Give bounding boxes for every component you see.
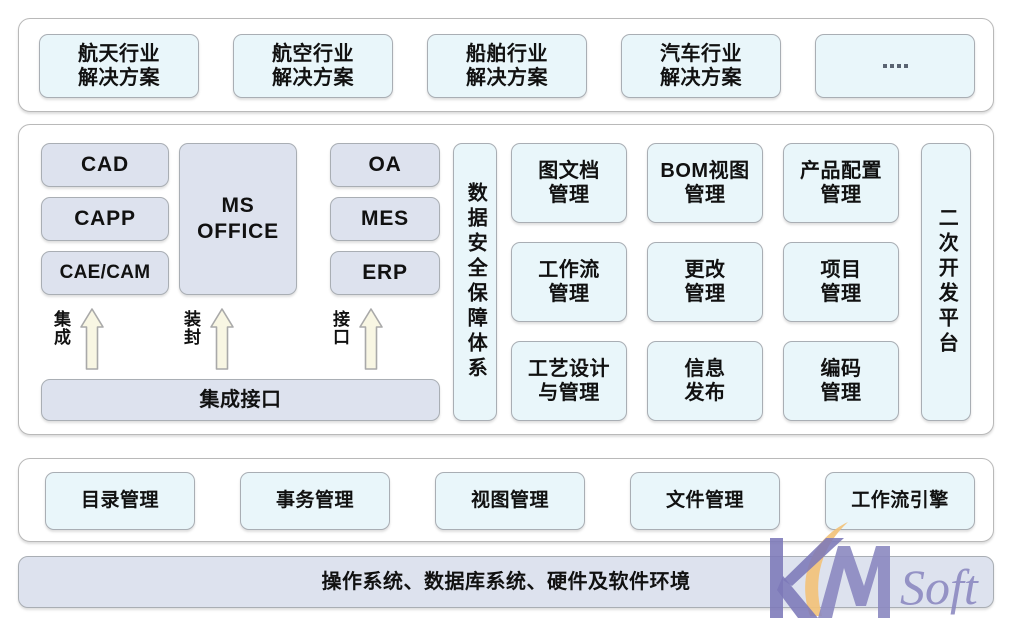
service-box-file-management[interactable]: 文件管理 bbox=[630, 472, 780, 530]
ellipsis-icon bbox=[883, 64, 908, 68]
integration-interface-bar[interactable]: 集成接口 bbox=[41, 379, 440, 421]
module-box-product-configuration-management[interactable]: 产品配置 管理 bbox=[783, 143, 899, 223]
industry-solutions-panel: 航天行业 解决方案 航空行业 解决方案 船舶行业 解决方案 汽车行业 解决方案 bbox=[18, 18, 994, 112]
industry-box-automotive[interactable]: 汽车行业 解决方案 bbox=[621, 34, 781, 98]
arrow-up-icon-packaging bbox=[209, 307, 235, 371]
app-box-cad[interactable]: CAD bbox=[41, 143, 169, 187]
service-box-view-management[interactable]: 视图管理 bbox=[435, 472, 585, 530]
service-box-directory-management[interactable]: 目录管理 bbox=[45, 472, 195, 530]
arrow-label-integration: 集成 bbox=[52, 310, 69, 346]
industry-box-aviation[interactable]: 航空行业 解决方案 bbox=[233, 34, 393, 98]
app-box-capp[interactable]: CAPP bbox=[41, 197, 169, 241]
foundation-bar[interactable]: 操作系统、数据库系统、硬件及软件环境 bbox=[18, 556, 994, 608]
module-box-coding-management[interactable]: 编码 管理 bbox=[783, 341, 899, 421]
module-box-bom-view-management[interactable]: BOM视图 管理 bbox=[647, 143, 763, 223]
architecture-diagram: 航天行业 解决方案 航空行业 解决方案 船舶行业 解决方案 汽车行业 解决方案 … bbox=[0, 0, 1012, 625]
industry-box-more[interactable] bbox=[815, 34, 975, 98]
app-box-erp[interactable]: ERP bbox=[330, 251, 440, 295]
service-box-workflow-engine[interactable]: 工作流引擎 bbox=[825, 472, 975, 530]
industry-box-aerospace[interactable]: 航天行业 解决方案 bbox=[39, 34, 199, 98]
industry-box-shipbuilding[interactable]: 船舶行业 解决方案 bbox=[427, 34, 587, 98]
app-box-oa[interactable]: OA bbox=[330, 143, 440, 187]
arrow-label-interface: 接口 bbox=[331, 310, 348, 346]
service-box-transaction-management[interactable]: 事务管理 bbox=[240, 472, 390, 530]
dev-platform-pillar[interactable]: 二次开发平台 bbox=[921, 143, 971, 421]
app-box-mes[interactable]: MES bbox=[330, 197, 440, 241]
module-box-change-management[interactable]: 更改 管理 bbox=[647, 242, 763, 322]
module-box-information-publishing[interactable]: 信息 发布 bbox=[647, 341, 763, 421]
core-platform-panel: CAD CAPP CAE/CAM MS OFFICE OA MES ERP 集成… bbox=[18, 124, 994, 435]
platform-services-panel: 目录管理 事务管理 视图管理 文件管理 工作流引擎 bbox=[18, 458, 994, 542]
security-pillar[interactable]: 数据安全保障体系 bbox=[453, 143, 497, 421]
module-box-project-management[interactable]: 项目 管理 bbox=[783, 242, 899, 322]
module-box-document-management[interactable]: 图文档 管理 bbox=[511, 143, 627, 223]
app-box-cae-cam[interactable]: CAE/CAM bbox=[41, 251, 169, 295]
arrow-up-icon-interface bbox=[358, 307, 384, 371]
app-box-ms-office[interactable]: MS OFFICE bbox=[179, 143, 297, 295]
arrow-label-packaging: 装封 bbox=[182, 310, 199, 346]
arrow-up-icon-integration bbox=[79, 307, 105, 371]
module-box-workflow-management[interactable]: 工作流 管理 bbox=[511, 242, 627, 322]
module-box-process-design-management[interactable]: 工艺设计 与管理 bbox=[511, 341, 627, 421]
